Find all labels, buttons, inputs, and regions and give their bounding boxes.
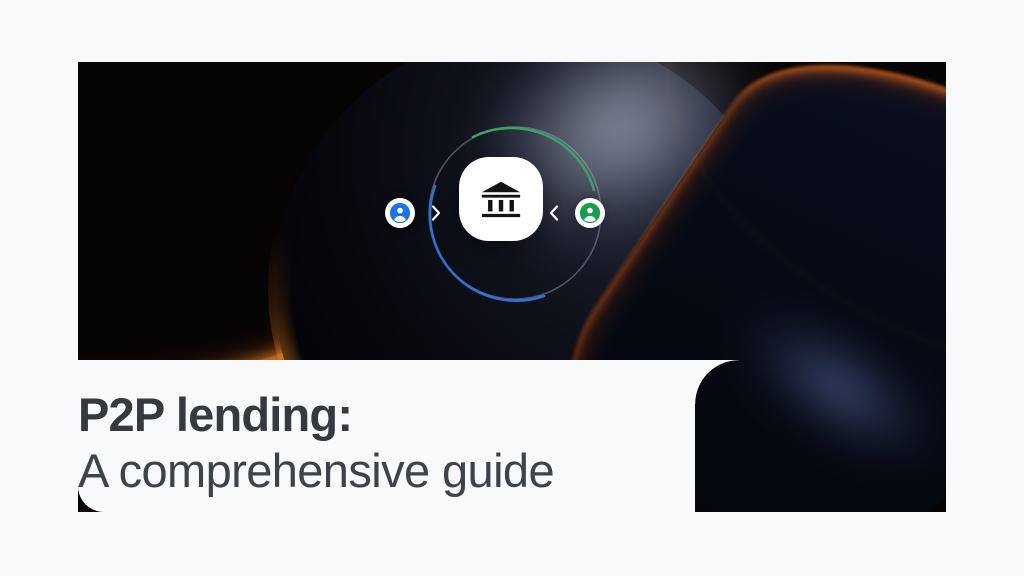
bank-icon	[478, 176, 524, 222]
page-title: P2P lending: A comprehensive guide	[78, 388, 698, 499]
borrower-avatar-icon	[389, 202, 411, 224]
hero-notch-inner-corner	[695, 360, 739, 404]
lender-avatar-node[interactable]	[575, 198, 605, 228]
chevron-left-glyph	[548, 204, 560, 222]
hero-banner: P2P lending: A comprehensive guide	[0, 0, 1024, 576]
chevron-right-icon	[429, 201, 443, 225]
lending-flow-emblem	[415, 113, 615, 313]
bank-tile[interactable]	[459, 157, 543, 241]
chevron-right-glyph	[430, 204, 442, 222]
chevron-left-icon	[547, 201, 561, 225]
lender-avatar-icon	[579, 202, 601, 224]
borrower-avatar-node[interactable]	[385, 198, 415, 228]
page-title-line-1: P2P lending:	[78, 388, 698, 442]
page-title-line-2: A comprehensive guide	[78, 442, 698, 499]
